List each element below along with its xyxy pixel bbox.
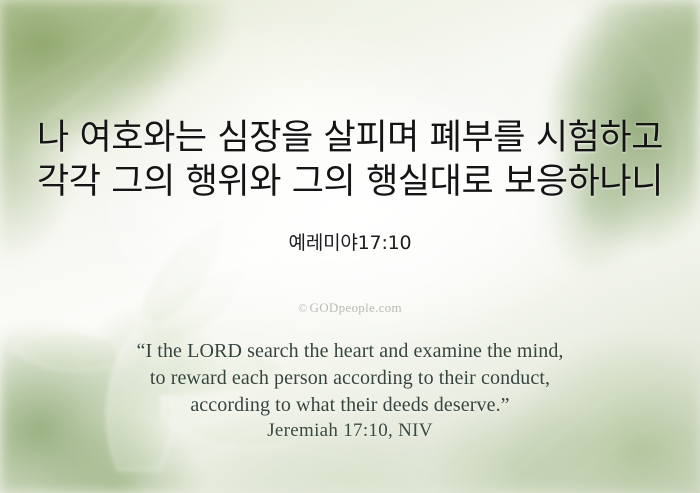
english-verse-line-2: to reward each person according to their… xyxy=(0,365,700,392)
english-verse-line-3: according to what their deeds deserve.” xyxy=(0,392,700,419)
english-verse-line-1: “I the LORD search the heart and examine… xyxy=(0,338,700,365)
english-verse-block: “I the LORD search the heart and examine… xyxy=(0,338,700,419)
korean-verse-line-1: 나 여호와는 심장을 살피며 폐부를 시험하고 xyxy=(0,116,700,160)
korean-verse-line-2: 각각 그의 행위와 그의 행실대로 보응하나니 xyxy=(0,160,700,204)
verse-content: 나 여호와는 심장을 살피며 폐부를 시험하고 각각 그의 행위와 그의 행실대… xyxy=(0,0,700,493)
watermark-text: GODpeople.com xyxy=(310,300,402,315)
watermark: ©GODpeople.com xyxy=(0,300,700,316)
korean-verse-reference: 예레미야17:10 xyxy=(0,228,700,255)
copyright-icon: © xyxy=(298,301,307,315)
english-verse-reference: Jeremiah 17:10, NIV xyxy=(0,420,700,442)
korean-verse-block: 나 여호와는 심장을 살피며 폐부를 시험하고 각각 그의 행위와 그의 행실대… xyxy=(0,116,700,204)
verse-card: 나 여호와는 심장을 살피며 폐부를 시험하고 각각 그의 행위와 그의 행실대… xyxy=(0,0,700,493)
